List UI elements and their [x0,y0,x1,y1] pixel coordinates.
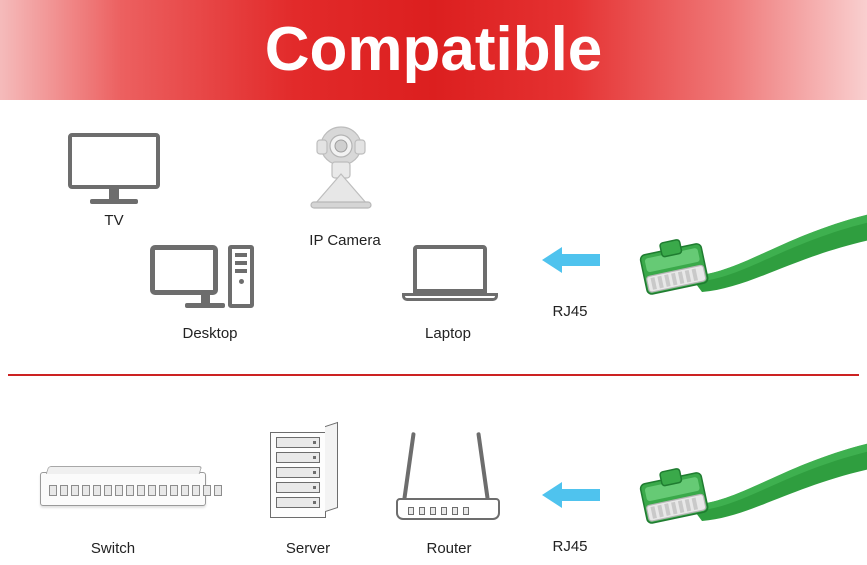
server-rack [270,432,326,518]
desktop-label: Desktop [155,325,265,342]
router-led [419,507,425,515]
desktop-base [185,303,225,308]
desktop-monitor [150,245,218,295]
laptop-base [402,293,498,301]
switch-port [148,485,156,496]
switch-body [40,472,206,506]
router-led [441,507,447,515]
switch-label: Switch [58,540,168,557]
header-banner: Compatible [0,0,867,100]
ip-camera-label: IP Camera [281,232,409,249]
router-led [463,507,469,515]
switch-port [181,485,189,496]
page-title: Compatible [265,19,603,81]
server-icon [270,432,326,518]
ethernet-cable-icon-top [630,196,867,326]
section-divider [8,374,859,376]
tower-bay [235,253,247,257]
server-slot [276,482,320,493]
router-led [408,507,414,515]
switch-port [170,485,178,496]
router-led [452,507,458,515]
laptop-label: Laptop [398,325,498,342]
server-slot [276,467,320,478]
laptop-icon [402,245,498,301]
tv-screen [68,133,160,189]
rj45-label-top: RJ45 [515,303,625,320]
switch-port [203,485,211,496]
server-rack-side [325,422,338,512]
tv-label: TV [64,212,164,229]
router-antenna-left [402,432,415,500]
server-slot [276,437,320,448]
switch-port [104,485,112,496]
arrow-left-icon [540,243,602,277]
rj45-label-bottom: RJ45 [515,538,625,555]
switch-port [159,485,167,496]
switch-port [82,485,90,496]
router-body [396,498,500,520]
server-slot [276,452,320,463]
switch-top-face [46,466,203,474]
tv-base [90,199,138,204]
switch-port [49,485,57,496]
switch-port-row [49,485,222,496]
router-antenna-right [476,432,489,500]
ip-camera-icon [305,124,385,214]
switch-port [93,485,101,496]
switch-port [137,485,145,496]
tv-neck [109,189,119,199]
tower-bay [235,269,247,273]
switch-port [115,485,123,496]
router-label: Router [394,540,504,557]
server-slot [276,497,320,508]
switch-port [192,485,200,496]
laptop-lid [413,245,487,293]
server-label: Server [253,540,363,557]
router-icon [395,432,505,528]
switch-icon [40,472,206,506]
switch-port [60,485,68,496]
compatibility-diagram: Compatible TV IP Camera [0,0,867,565]
arrow-left-icon-bottom [540,478,602,512]
router-led-row [408,507,469,515]
tower-bay [235,261,247,265]
desktop-icon [150,245,260,317]
tv-icon [68,133,160,204]
router-led [430,507,436,515]
desktop-neck [201,295,210,303]
desktop-tower [228,245,254,308]
switch-port [126,485,134,496]
switch-port [214,485,222,496]
ethernet-cable-icon-bottom [630,425,867,555]
switch-port [71,485,79,496]
tower-power-dot [239,279,244,284]
